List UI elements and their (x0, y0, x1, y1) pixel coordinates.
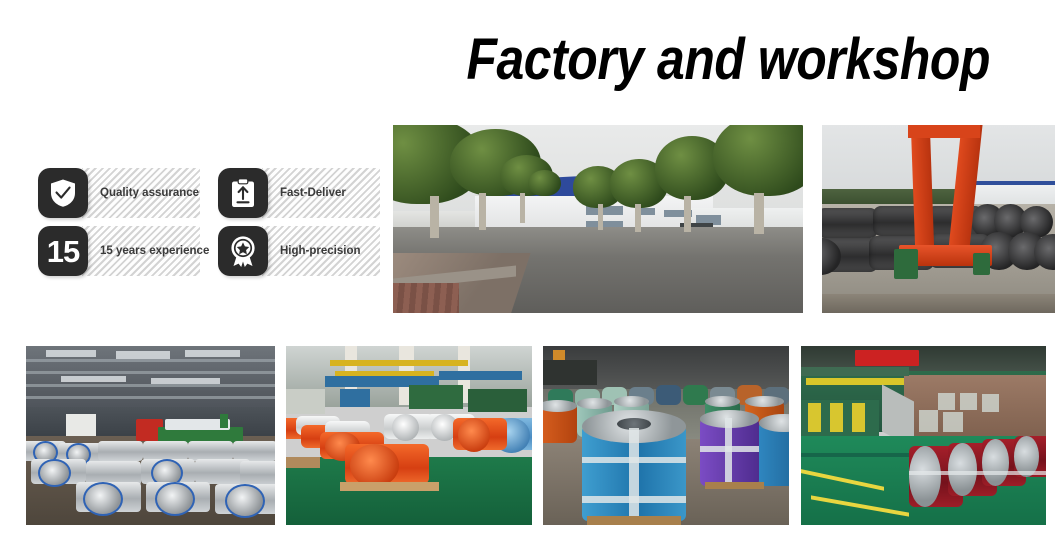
feature-badge-label: Fast-Deliver (262, 168, 380, 218)
number-badge-icon: 15 (38, 226, 88, 276)
clipboard-upload-icon (218, 168, 268, 218)
feature-badge-high-precision[interactable]: High-precision (218, 226, 380, 276)
feature-badge-years-experience[interactable]: 15 15 years experience (38, 226, 200, 276)
feature-badge-label: 15 years experience (82, 226, 200, 276)
feature-badge-fast-deliver[interactable]: Fast-Deliver (218, 168, 380, 218)
factory-exterior-road-photo (393, 125, 803, 313)
feature-badge-quality-assurance[interactable]: Quality assurance (38, 168, 200, 218)
warehouse-galvanized-coils-photo (26, 346, 275, 525)
gantry-crane-steel-coils-photo (822, 125, 1055, 313)
feature-badge-group: Quality assurance Fast-Deliver 15 15 yea… (38, 168, 388, 284)
feature-badge-label: High-precision (262, 226, 380, 276)
years-number: 15 (47, 236, 79, 267)
shield-check-icon (38, 168, 88, 218)
award-rosette-star-icon (218, 226, 268, 276)
page-title: Factory and workshop (620, 18, 990, 100)
prepainted-orange-coils-photo (286, 346, 532, 525)
feature-badge-label: Quality assurance (82, 168, 200, 218)
upright-color-coils-photo (543, 346, 789, 525)
red-coils-workshop-photo (801, 346, 1046, 525)
